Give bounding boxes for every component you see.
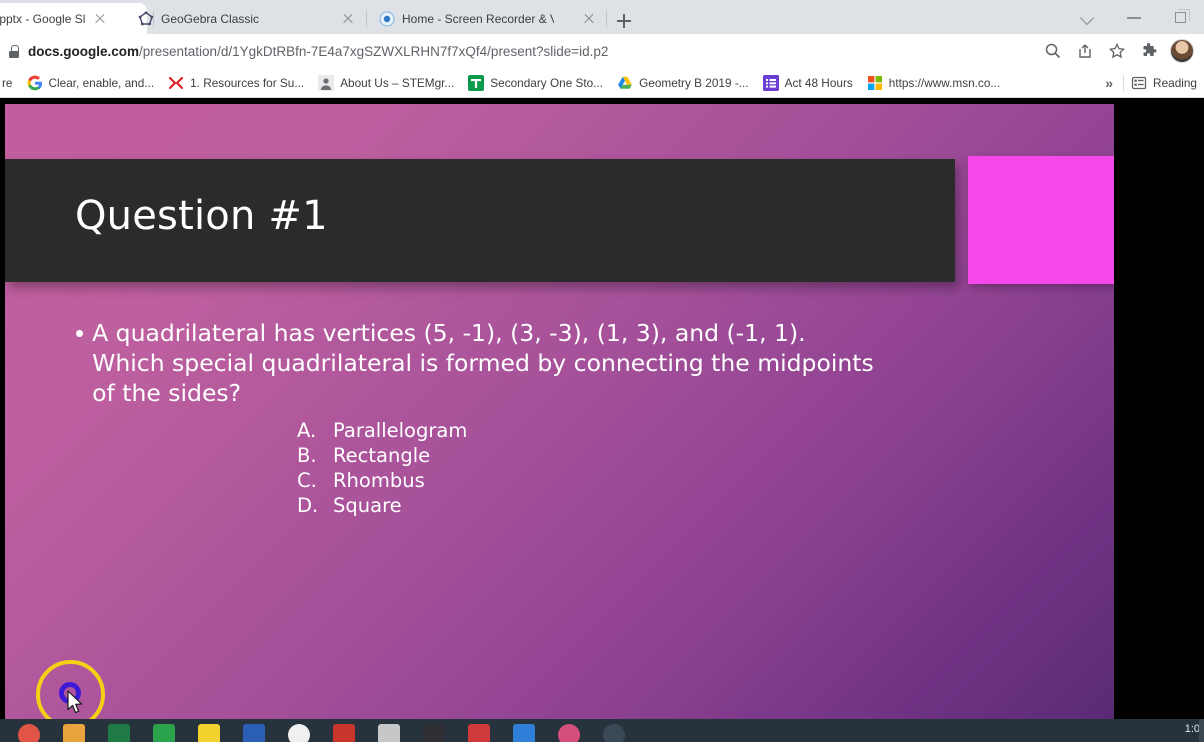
screen: .pptx - Google Sl GeoGebra Classic (0, 0, 1204, 742)
os-taskbar[interactable]: 1:0 (0, 719, 1204, 742)
app-blue-folder[interactable] (513, 724, 535, 742)
bookmark-item-2-label: 1. Resources for Su... (190, 76, 304, 90)
tab-separator (606, 11, 607, 27)
minimize-icon (1127, 17, 1141, 19)
app-dark-app[interactable] (423, 724, 445, 742)
answer-choice-c-letter: C. (297, 468, 333, 493)
slide-body: • A quadrilateral has vertices (5, -1), … (75, 318, 975, 408)
browser-tab-0-close-icon[interactable] (92, 11, 108, 27)
reading-list-button[interactable]: Reading (1124, 71, 1204, 95)
list-purple-icon (763, 75, 779, 91)
slide-canvas[interactable]: Question #1 • A quadrilateral has vertic… (5, 104, 1114, 720)
bookmarks-overflow-button[interactable]: » (1095, 75, 1123, 91)
app-yellow-note[interactable] (198, 724, 220, 742)
bullet-item: • A quadrilateral has vertices (5, -1), … (75, 318, 975, 408)
show-desktop-button[interactable] (1199, 719, 1204, 742)
bookmark-item-4[interactable]: Secondary One Sto... (461, 71, 610, 95)
presentation-viewport[interactable]: Question #1 • A quadrilateral has vertic… (0, 99, 1204, 719)
browser-tab-0[interactable]: .pptx - Google Sl (0, 3, 147, 34)
bookmark-item-1[interactable]: Clear, enable, and... (20, 71, 162, 95)
omnibox-actions (1038, 34, 1200, 68)
x-red-icon (168, 75, 184, 91)
app-pink-app[interactable] (558, 724, 580, 742)
arrow-cursor (67, 690, 85, 721)
lock-icon[interactable] (8, 44, 20, 58)
maximize-button[interactable] (1158, 0, 1204, 34)
app-gray-window[interactable] (378, 724, 400, 742)
person-icon (318, 75, 334, 91)
app-chrome[interactable] (603, 724, 625, 742)
share-icon[interactable] (1070, 37, 1100, 65)
bullet-marker: • (75, 318, 84, 349)
answer-choice-a[interactable]: A. Parallelogram (297, 418, 467, 443)
tab-separator (366, 11, 367, 27)
taskbar-clock[interactable]: 1:0 (1185, 723, 1200, 735)
browser-tab-2-close-icon[interactable] (581, 11, 597, 27)
bookmark-item-1-label: Clear, enable, and... (49, 76, 155, 90)
answer-choice-b[interactable]: B. Rectangle (297, 443, 467, 468)
teachers-pay-teachers-icon (468, 75, 484, 91)
chevron-down-icon (1080, 11, 1094, 25)
app-red-book[interactable] (468, 724, 490, 742)
restore-icon (1175, 12, 1186, 23)
app-green-note[interactable] (153, 724, 175, 742)
reading-list-icon (1131, 75, 1147, 91)
minimize-button[interactable] (1112, 0, 1158, 34)
browser-tab-1[interactable]: GeoGebra Classic (127, 3, 362, 34)
app-excel[interactable] (108, 724, 130, 742)
tab-search-button[interactable] (1066, 0, 1112, 34)
answer-choices: A. Parallelogram B. Rectangle C. Rhombus… (297, 418, 467, 518)
bookmark-item-3[interactable]: About Us – STEMgr... (311, 71, 461, 95)
answer-choice-b-letter: B. (297, 443, 333, 468)
answer-choice-c[interactable]: C. Rhombus (297, 468, 467, 493)
bookmark-item-5[interactable]: Geometry B 2019 -... (610, 71, 756, 95)
zoom-icon[interactable] (1038, 37, 1068, 65)
browser-tab-1-close-icon[interactable] (340, 11, 356, 27)
bookmark-item-5-label: Geometry B 2019 -... (639, 76, 749, 90)
bookmark-item-0[interactable]: re (0, 71, 20, 95)
bookmark-item-6[interactable]: Act 48 Hours (756, 71, 860, 95)
bookmarks-bar: re Clear, enable, and... 1. Resources fo… (0, 68, 1204, 98)
slide-accent-box (968, 156, 1114, 284)
app-white-circle[interactable] (288, 724, 310, 742)
app-red-doc[interactable] (333, 724, 355, 742)
extensions-puzzle-icon[interactable] (1134, 37, 1164, 65)
browser-tab-2-title: Home - Screen Recorder & Video (402, 11, 554, 27)
answer-choice-a-text: Parallelogram (333, 418, 467, 443)
profile-avatar[interactable] (1170, 39, 1194, 63)
browser-tab-0-title: .pptx - Google Sl (0, 11, 85, 27)
bookmark-star-icon[interactable] (1102, 37, 1132, 65)
answer-choice-b-text: Rectangle (333, 443, 430, 468)
google-drive-icon (617, 75, 633, 91)
app-file-explorer[interactable] (63, 724, 85, 742)
app-red-circle[interactable] (18, 724, 40, 742)
answer-choice-d-text: Square (333, 493, 402, 518)
bookmark-item-7[interactable]: https://www.msn.co... (860, 71, 1007, 95)
bookmark-item-7-label: https://www.msn.co... (889, 76, 1000, 90)
app-blue-doc[interactable] (243, 724, 265, 742)
bookmark-item-3-label: About Us – STEMgr... (340, 76, 454, 90)
microsoft-icon (867, 75, 883, 91)
bookmark-item-0-label: re (2, 76, 13, 90)
answer-choice-d[interactable]: D. Square (297, 493, 467, 518)
answer-choice-a-letter: A. (297, 418, 333, 443)
new-tab-button[interactable] (610, 7, 638, 35)
taskbar-apps (18, 724, 625, 742)
bookmark-item-6-label: Act 48 Hours (785, 76, 853, 90)
bookmark-item-4-label: Secondary One Sto... (490, 76, 603, 90)
slide-title-bar: Question #1 (5, 159, 955, 282)
browser-tab-strip: .pptx - Google Sl GeoGebra Classic (0, 0, 1204, 34)
window-controls (1066, 0, 1204, 34)
url-domain: docs.google.com (28, 44, 139, 59)
bookmark-item-2[interactable]: 1. Resources for Su... (161, 71, 311, 95)
address-bar[interactable]: docs.google.com/presentation/d/1YgkDtRBf… (0, 34, 1204, 68)
question-text: A quadrilateral has vertices (5, -1), (3… (92, 318, 874, 408)
answer-choice-c-text: Rhombus (333, 468, 425, 493)
browser-tab-2[interactable]: Home - Screen Recorder & Video (368, 3, 603, 34)
screen-recorder-icon (379, 11, 395, 27)
url-text: docs.google.com/presentation/d/1YgkDtRBf… (28, 44, 608, 59)
reading-list-label: Reading (1153, 76, 1197, 90)
geogebra-icon (138, 11, 154, 27)
browser-tab-1-title: GeoGebra Classic (161, 11, 259, 27)
google-icon (27, 75, 43, 91)
page-title: Question #1 (75, 193, 328, 239)
url-path: /presentation/d/1YgkDtRBfn-7E4a7xgSZWXLR… (139, 44, 608, 59)
answer-choice-d-letter: D. (297, 493, 333, 518)
